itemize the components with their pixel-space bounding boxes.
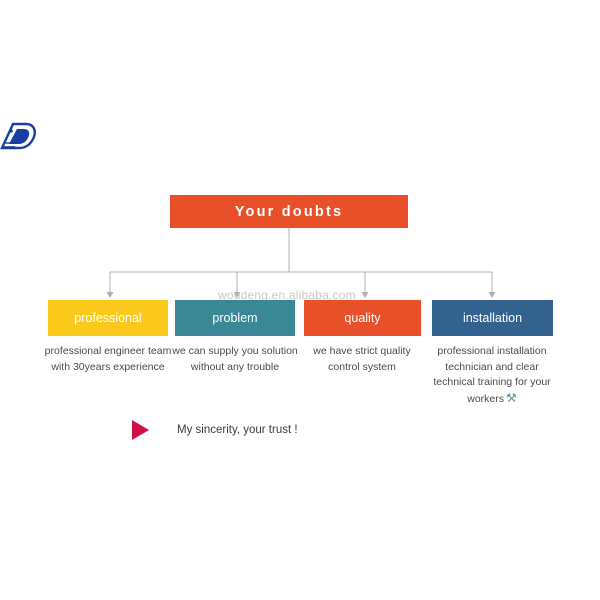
arrowhead-3	[489, 292, 496, 298]
branch-desc-line: with 30years experience	[38, 360, 178, 376]
root-node-label: Your doubts	[235, 204, 344, 220]
slide-canvas: Your doubts woudeng.en.alibaba.com profe…	[0, 0, 600, 600]
branch-desc-line: professional engineer team	[38, 344, 178, 360]
branch-description-professional: professional engineer team with 30years …	[38, 344, 178, 375]
branch-desc-line: we have strict quality	[297, 344, 427, 360]
branch-installation: installation professional installation t…	[432, 300, 553, 407]
branch-desc-line: we can supply you solution	[165, 344, 305, 360]
branch-label-problem: problem	[212, 311, 257, 325]
branch-label-quality: quality	[344, 311, 380, 325]
tagline-text: My sincerity, your trust !	[177, 424, 298, 436]
branch-description-quality: we have strict quality control system	[297, 344, 427, 375]
play-triangle-icon	[132, 420, 149, 440]
branch-problem: problem we can supply you solution witho…	[175, 300, 295, 375]
logo-icon	[0, 118, 40, 158]
branch-desc-line: workers	[467, 393, 504, 405]
branch-label-installation: installation	[463, 311, 522, 325]
arrowhead-0	[107, 292, 114, 298]
branch-description-installation: professional installation technician and…	[427, 344, 557, 407]
branch-label-professional: professional	[74, 311, 141, 325]
woudeng-logo	[0, 118, 40, 158]
arrowhead-2	[362, 292, 369, 298]
branch-box-problem[interactable]: problem	[175, 300, 295, 336]
branch-desc-line: technical training for your	[427, 375, 557, 391]
branch-description-problem: we can supply you solution without any t…	[165, 344, 305, 375]
branch-quality: quality we have strict quality control s…	[304, 300, 421, 375]
branch-box-quality[interactable]: quality	[304, 300, 421, 336]
tagline: My sincerity, your trust !	[132, 420, 298, 440]
branch-box-professional[interactable]: professional	[48, 300, 168, 336]
branch-desc-line: technician and clear	[427, 360, 557, 376]
branch-desc-line: control system	[297, 360, 427, 376]
branch-desc-line: professional installation	[427, 344, 557, 360]
branch-desc-line: without any trouble	[165, 360, 305, 376]
branch-desc-line-with-icon: workers⚒	[427, 391, 557, 408]
hammer-and-wrench-icon: ⚒	[504, 391, 517, 405]
branch-box-installation[interactable]: installation	[432, 300, 553, 336]
root-node-your-doubts[interactable]: Your doubts	[170, 195, 408, 228]
branch-professional: professional professional engineer team …	[48, 300, 168, 375]
